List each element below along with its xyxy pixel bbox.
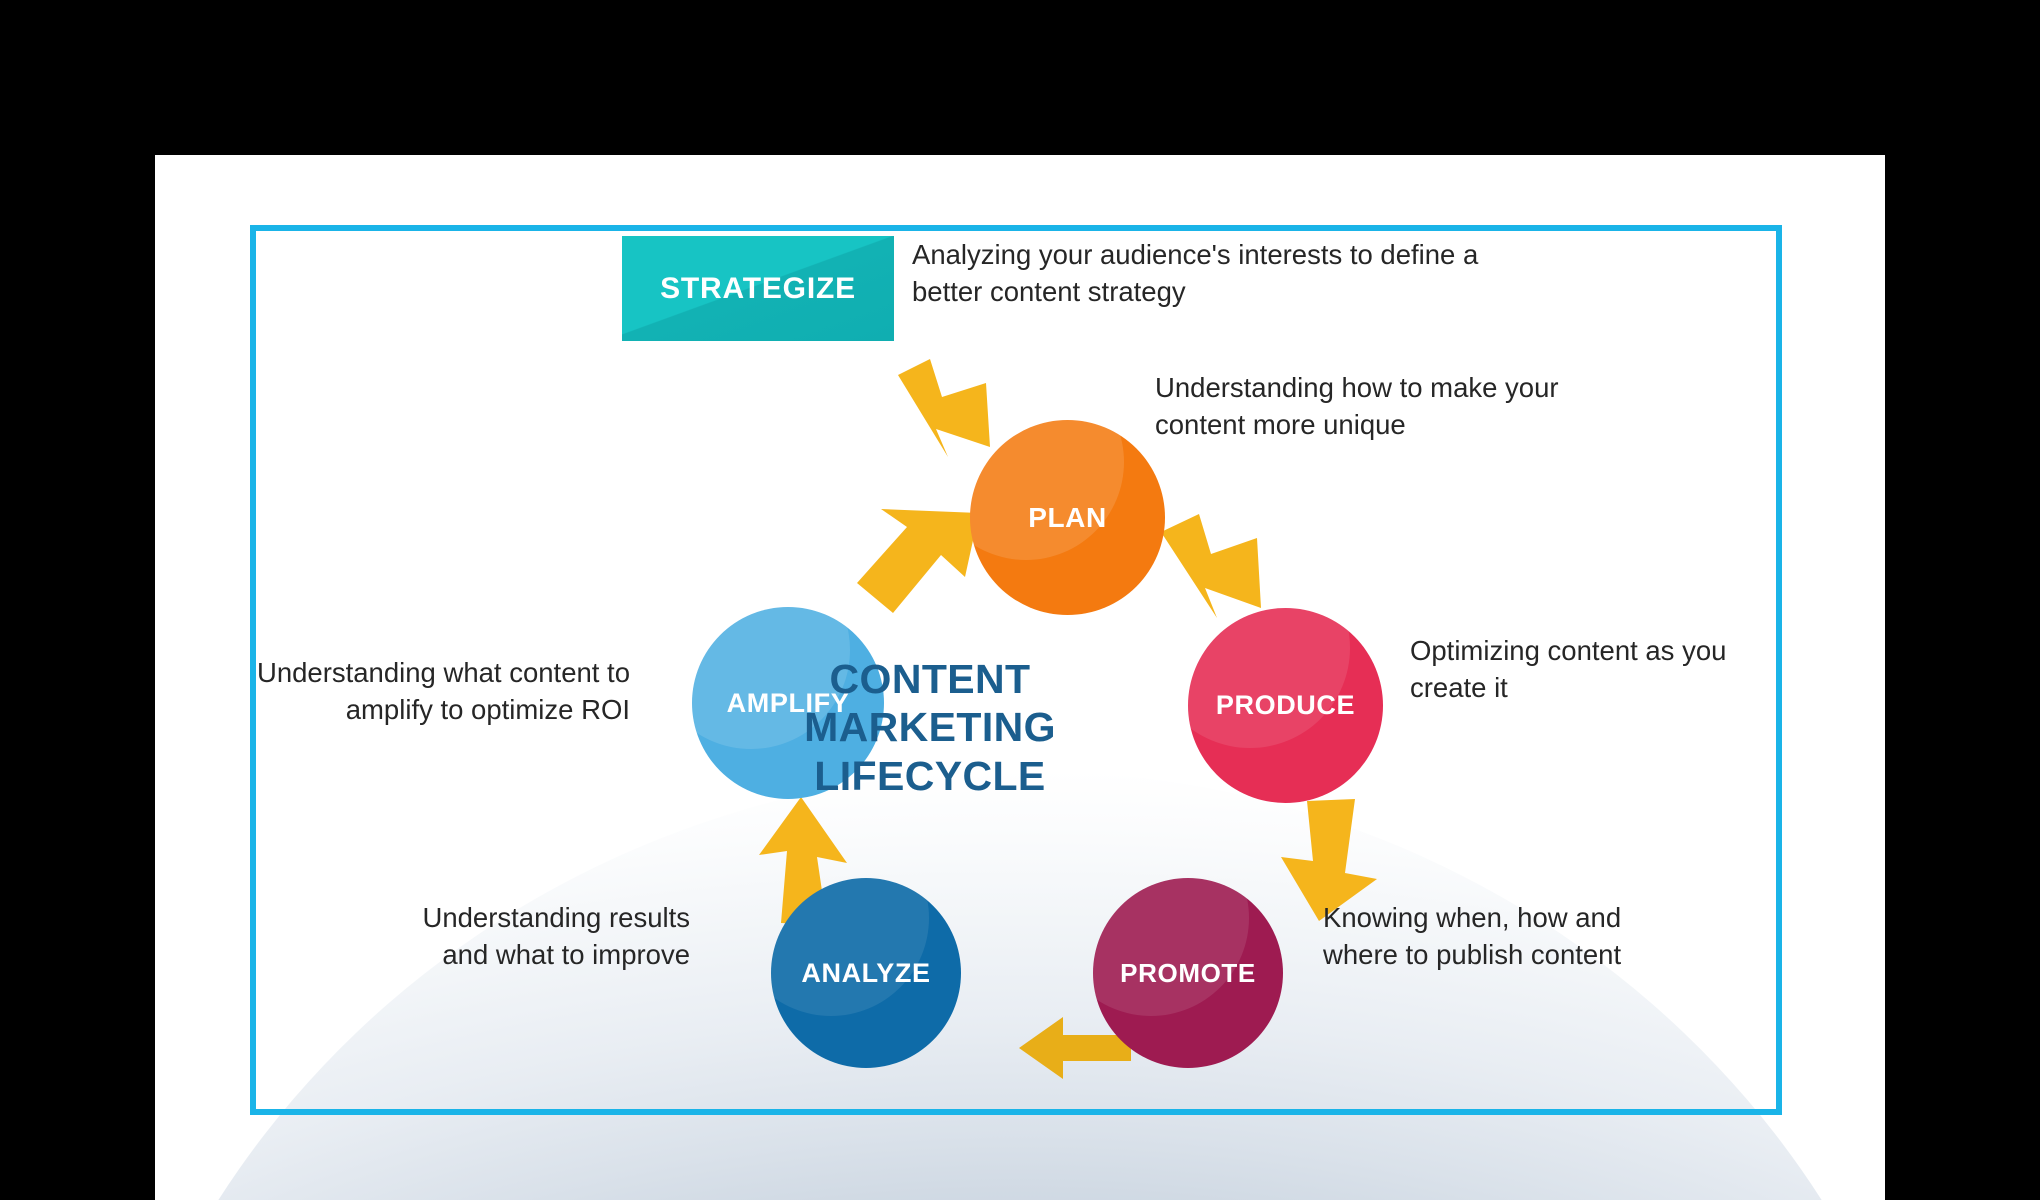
analyze-highlight-crescent — [771, 878, 929, 1016]
caption-produce: Optimizing content as you create it — [1410, 633, 1740, 706]
stage-label-amplify: AMPLIFY — [727, 690, 850, 717]
diagram-title: CONTENT MARKETING LIFECYCLE — [770, 655, 1090, 800]
diagram-layer: STRATEGIZE PLAN PRODUCE PROMOTE ANALYZE — [155, 155, 1885, 1200]
stage-circle-produce[interactable]: PRODUCE — [1188, 608, 1383, 803]
caption-plan: Understanding how to make your content m… — [1155, 370, 1575, 443]
caption-promote: Knowing when, how and where to publish c… — [1323, 900, 1663, 973]
plan-highlight-crescent — [970, 420, 1124, 560]
stage-label-analyze: ANALYZE — [801, 960, 930, 987]
stage-circle-analyze[interactable]: ANALYZE — [771, 878, 961, 1068]
produce-highlight-crescent — [1188, 608, 1350, 748]
stage-circle-plan[interactable]: PLAN — [970, 420, 1165, 615]
caption-strategize: Analyzing your audience's interests to d… — [912, 237, 1482, 310]
stage-label-produce: PRODUCE — [1216, 692, 1355, 719]
arrow-amplify-to-plan — [855, 505, 985, 620]
slide-surface: STRATEGIZE PLAN PRODUCE PROMOTE ANALYZE — [155, 155, 1885, 1200]
promote-highlight-crescent — [1093, 878, 1249, 1016]
caption-amplify: Understanding what content to amplify to… — [210, 655, 630, 728]
screenshot-canvas: STRATEGIZE PLAN PRODUCE PROMOTE ANALYZE — [0, 0, 2040, 1200]
strategize-chip-label: STRATEGIZE — [660, 272, 856, 306]
stage-label-plan: PLAN — [1028, 504, 1107, 532]
strategize-chip[interactable]: STRATEGIZE — [622, 236, 894, 341]
stage-circle-promote[interactable]: PROMOTE — [1093, 878, 1283, 1068]
caption-analyze: Understanding results and what to improv… — [370, 900, 690, 973]
stage-label-promote: PROMOTE — [1120, 960, 1256, 986]
arrow-plan-to-produce — [1155, 508, 1285, 623]
diagram-title-line-3: LIFECYCLE — [770, 752, 1090, 800]
